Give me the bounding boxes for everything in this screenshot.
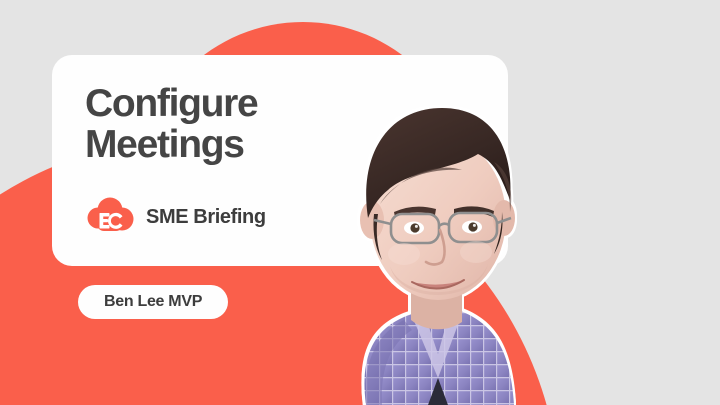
ec-cloud-logo-icon (85, 195, 135, 239)
speaker-name-badge: Ben Lee MVP (78, 285, 228, 319)
slide-canvas: Configure Meetings (0, 0, 720, 405)
speaker-name-label: Ben Lee MVP (104, 293, 202, 311)
speaker-photo (262, 78, 592, 405)
brand-name: SME Briefing (146, 206, 266, 229)
